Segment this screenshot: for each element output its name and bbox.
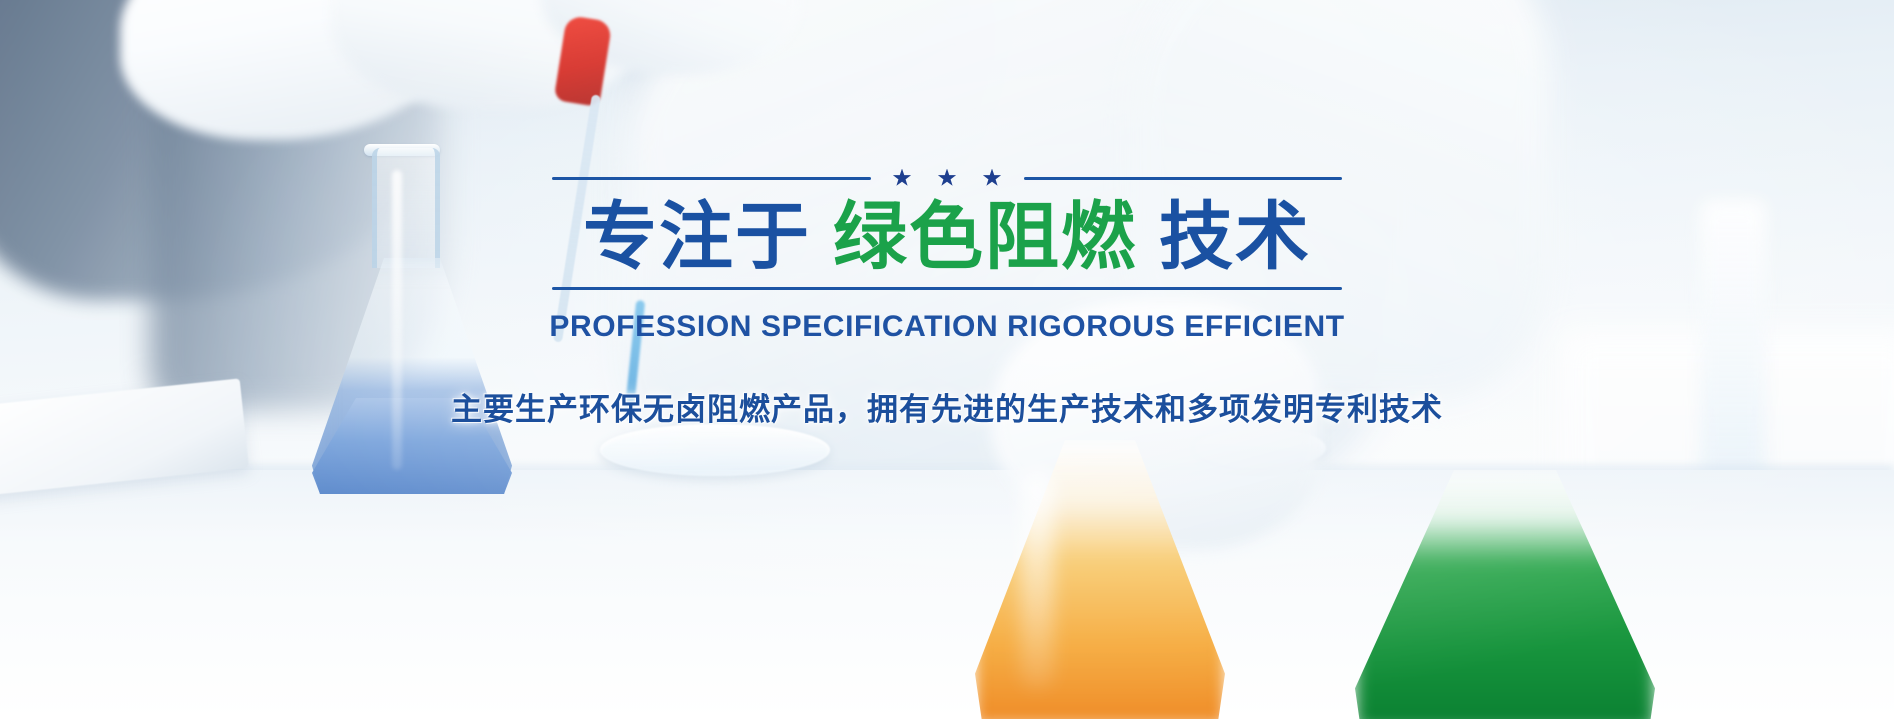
headline-underline: [552, 287, 1342, 290]
divider-rule-right: [1024, 177, 1343, 180]
decorative-divider: [552, 168, 1342, 188]
divider-rule-left: [552, 177, 871, 180]
star-icon: [893, 169, 912, 188]
headline-segment-1: 专注于: [583, 196, 811, 277]
star-icon: [983, 169, 1002, 188]
headline-segment-3: 技术: [1159, 196, 1311, 277]
banner-headline: 专注于 绿色阻燃 技术: [583, 196, 1311, 277]
divider-stars: [871, 169, 1024, 188]
banner-content: 专注于 绿色阻燃 技术 PROFESSION SPECIFICATION RIG…: [0, 0, 1894, 719]
banner-subtitle-english: PROFESSION SPECIFICATION RIGOROUS EFFICI…: [549, 310, 1344, 344]
banner-description: 主要生产环保无卤阻燃产品，拥有先进的生产技术和多项发明专利技术: [451, 384, 1443, 429]
hero-banner: 专注于 绿色阻燃 技术 PROFESSION SPECIFICATION RIG…: [0, 0, 1894, 719]
star-icon: [938, 169, 957, 188]
headline-segment-2: 绿色阻燃: [833, 196, 1137, 277]
